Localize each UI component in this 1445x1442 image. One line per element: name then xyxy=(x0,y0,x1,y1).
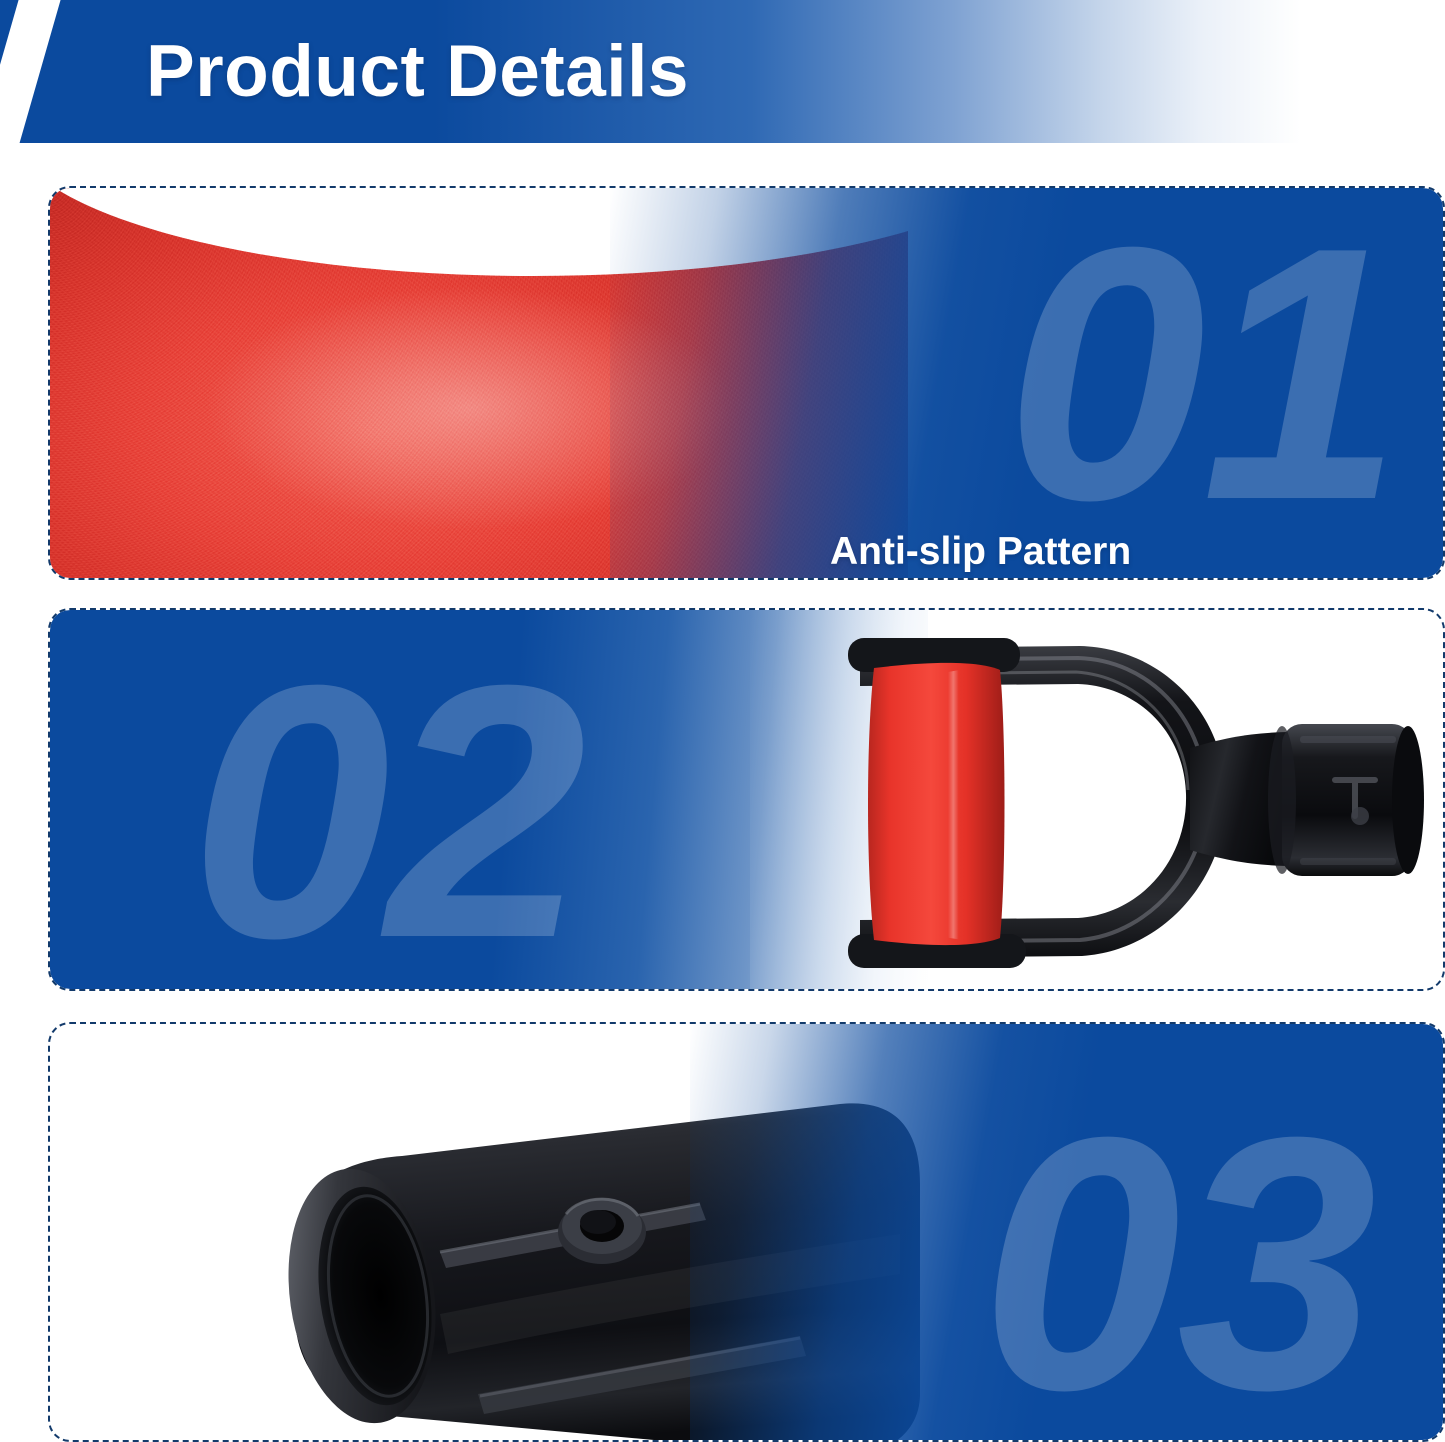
card-01-number-watermark: 01 xyxy=(1006,194,1398,554)
socket-boss xyxy=(1351,807,1369,825)
card-01-title: Anti-slip Pattern xyxy=(830,530,1131,574)
card-02-number-watermark: 02 xyxy=(190,632,582,989)
socket-rib-bottom xyxy=(1300,858,1396,865)
card-03-inner: 03 xyxy=(50,1024,1443,1440)
screw-hole-inner xyxy=(580,1210,616,1234)
page-header: Product Details xyxy=(0,0,1445,143)
socket-shoulder xyxy=(1268,726,1296,874)
feature-card-02: 02 xyxy=(48,608,1445,991)
card-02-inner: 02 xyxy=(50,610,1443,989)
card-01-inner: 01 xyxy=(50,188,1443,578)
socket-end-cap xyxy=(1392,726,1424,874)
socket-rib-top xyxy=(1300,736,1396,743)
card-03-number-watermark: 03 xyxy=(981,1084,1373,1440)
feature-card-01: 01 Anti-slip Pattern The surface imitati… xyxy=(48,186,1445,580)
feature-card-03: 03 Easy to Install The screw holes are e… xyxy=(48,1022,1445,1442)
d-shaped-handle-photo xyxy=(830,620,1443,985)
red-grip-highlight xyxy=(948,672,959,938)
page-title: Product Details xyxy=(146,23,689,121)
red-grip xyxy=(868,663,1005,945)
